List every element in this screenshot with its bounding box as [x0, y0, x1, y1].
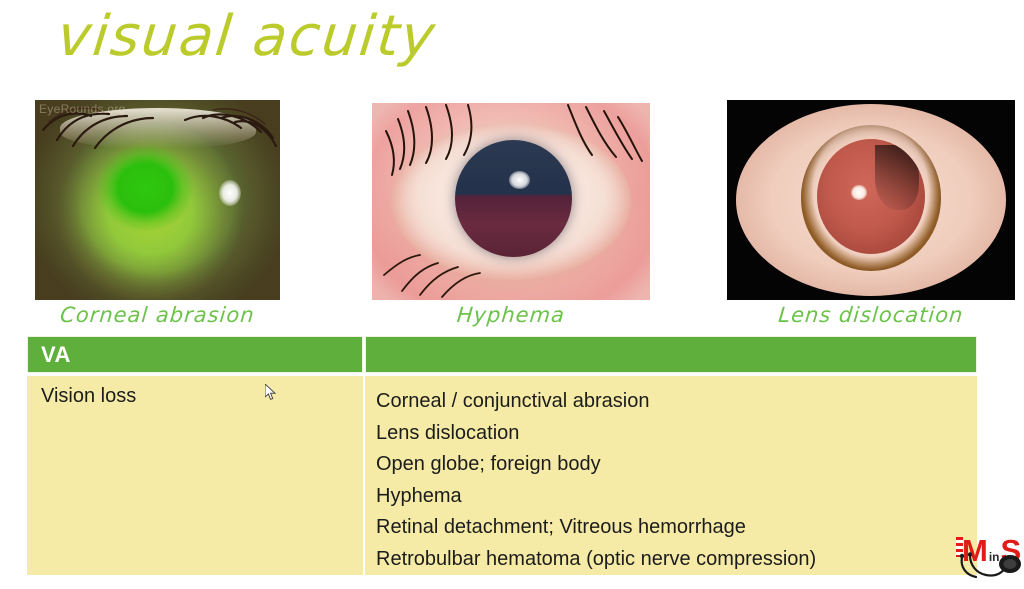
stethoscope-icon	[956, 551, 1024, 589]
photo-lens-dislocation	[727, 100, 1015, 300]
corneal-light-reflex	[851, 185, 866, 200]
table-header-cell-va: VA	[27, 336, 363, 373]
page-title: visual acuity	[55, 4, 440, 69]
brand-logo: M in S	[956, 527, 1024, 589]
finding-label: Vision loss	[41, 386, 363, 406]
cause-item: Hyphema	[376, 481, 977, 513]
table-header-row: VA	[27, 336, 977, 373]
cause-item: Retinal detachment; Vitreous hemorrhage	[376, 512, 977, 544]
va-findings-table: VA Vision loss Corneal / conjunctival ab…	[27, 336, 977, 575]
eyelash-overlay-icon	[372, 103, 650, 300]
figure-corneal-abrasion: EyeRounds.org Corneal abrasion	[35, 100, 280, 300]
cause-item: Open globe; foreign body	[376, 449, 977, 481]
photo-corneal-abrasion: EyeRounds.org	[35, 100, 280, 300]
image-watermark: EyeRounds.org	[39, 102, 126, 116]
figure-hyphema: Hyphema	[372, 103, 650, 300]
cause-item: Lens dislocation	[376, 418, 977, 450]
pupil-red-reflex	[817, 139, 925, 254]
table-header-cell-blank	[365, 336, 977, 373]
dislocated-lens-edge	[875, 145, 918, 210]
figure-caption-lens-dislocation: Lens dislocation	[726, 303, 1016, 327]
table-cell-causes: Corneal / conjunctival abrasion Lens dis…	[365, 376, 977, 575]
figure-caption-hyphema: Hyphema	[371, 303, 651, 327]
cause-item: Corneal / conjunctival abrasion	[376, 386, 977, 418]
photo-hyphema	[372, 103, 650, 300]
eye-globe-region	[736, 104, 1007, 296]
lens-dislocation-eye-image	[727, 100, 1015, 300]
table-cell-finding: Vision loss	[27, 376, 363, 575]
table-row: Vision loss Corneal / conjunctival abras…	[27, 376, 977, 575]
figure-caption-corneal-abrasion: Corneal abrasion	[34, 303, 281, 327]
table-header-label-va: VA	[41, 342, 71, 368]
figure-lens-dislocation: Lens dislocation	[727, 100, 1015, 300]
cause-item: Retrobulbar hematoma (optic nerve compre…	[376, 544, 977, 576]
